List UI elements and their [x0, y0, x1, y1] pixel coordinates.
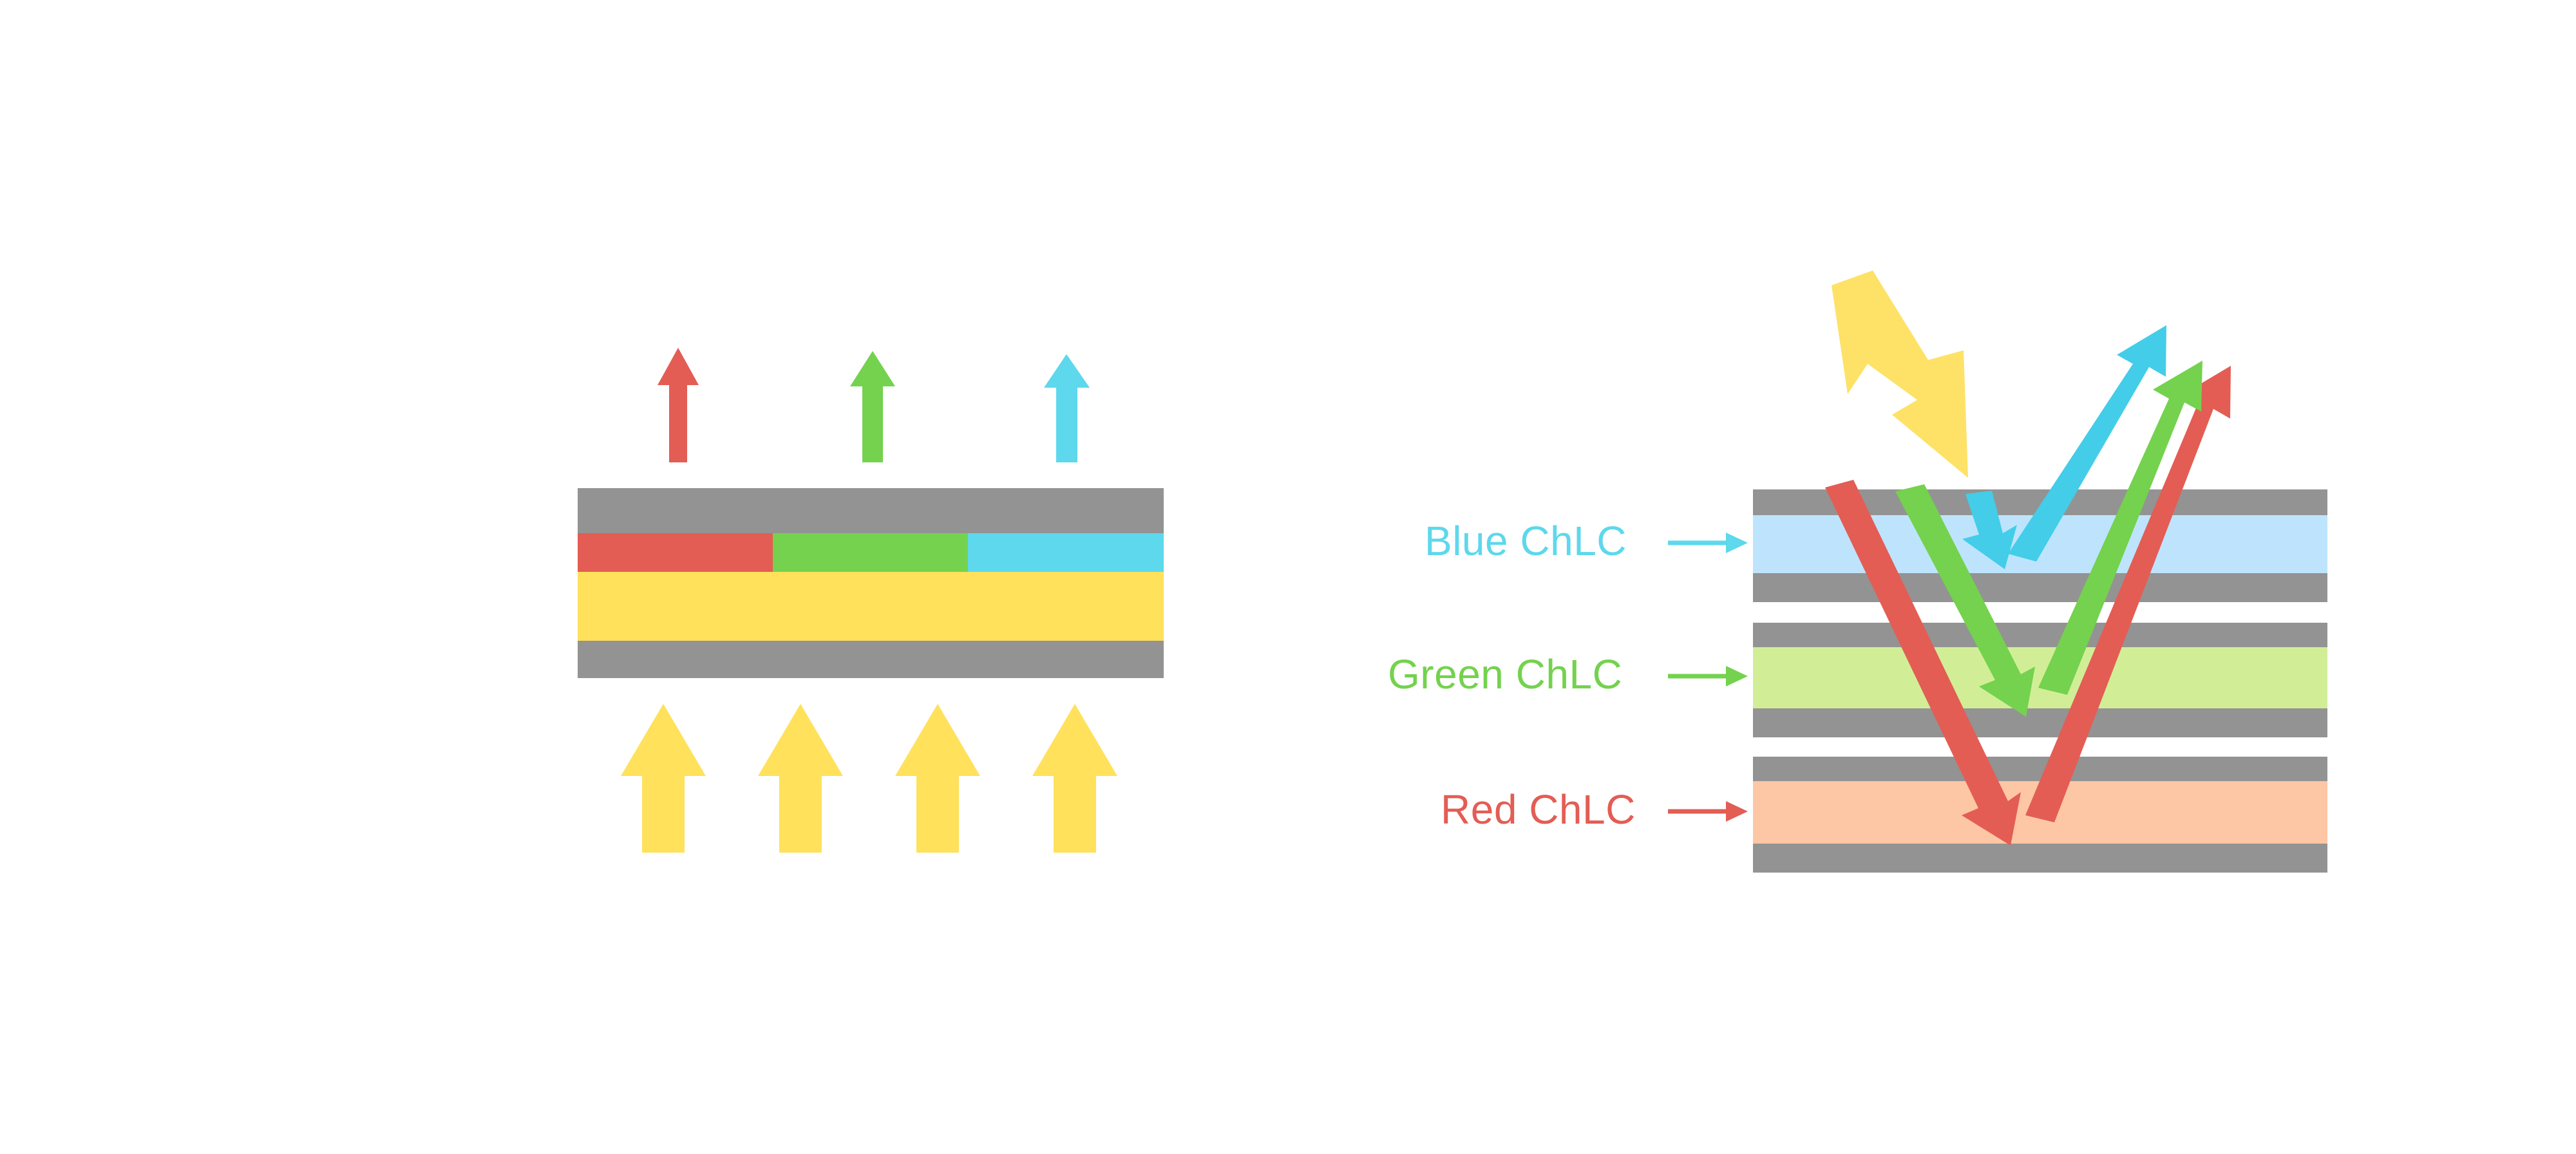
- label-red-chlc-text: Red ChLC: [1441, 786, 1636, 833]
- green-cell-top-electrode: [1753, 623, 2327, 647]
- green-chlc-layer: [1753, 647, 2327, 708]
- red-cell-top-electrode: [1753, 757, 2327, 781]
- red-cell-bottom-electrode: [1753, 844, 2327, 873]
- green-cell-bottom-electrode: [1753, 708, 2327, 737]
- blue-cell-bottom-electrode: [1753, 573, 2327, 602]
- top-electrode: [578, 488, 1164, 533]
- color-filter-row: [578, 533, 1164, 572]
- red-subpixel: [578, 533, 773, 572]
- green-subpixel: [773, 533, 968, 572]
- diagram-root: Blue ChLC Green ChLC Red ChLC: [0, 0, 2576, 1154]
- blue-subpixel: [968, 533, 1164, 572]
- diagram-canvas: Blue ChLC Green ChLC Red ChLC: [0, 0, 2576, 1154]
- label-blue-chlc-text: Blue ChLC: [1425, 518, 1627, 564]
- label-green-chlc-text: Green ChLC: [1388, 651, 1622, 697]
- green-chlc-cell: [1753, 623, 2327, 737]
- bottom-electrode: [578, 641, 1164, 678]
- backlight-layer: [578, 572, 1164, 641]
- left-stack: [578, 488, 1164, 678]
